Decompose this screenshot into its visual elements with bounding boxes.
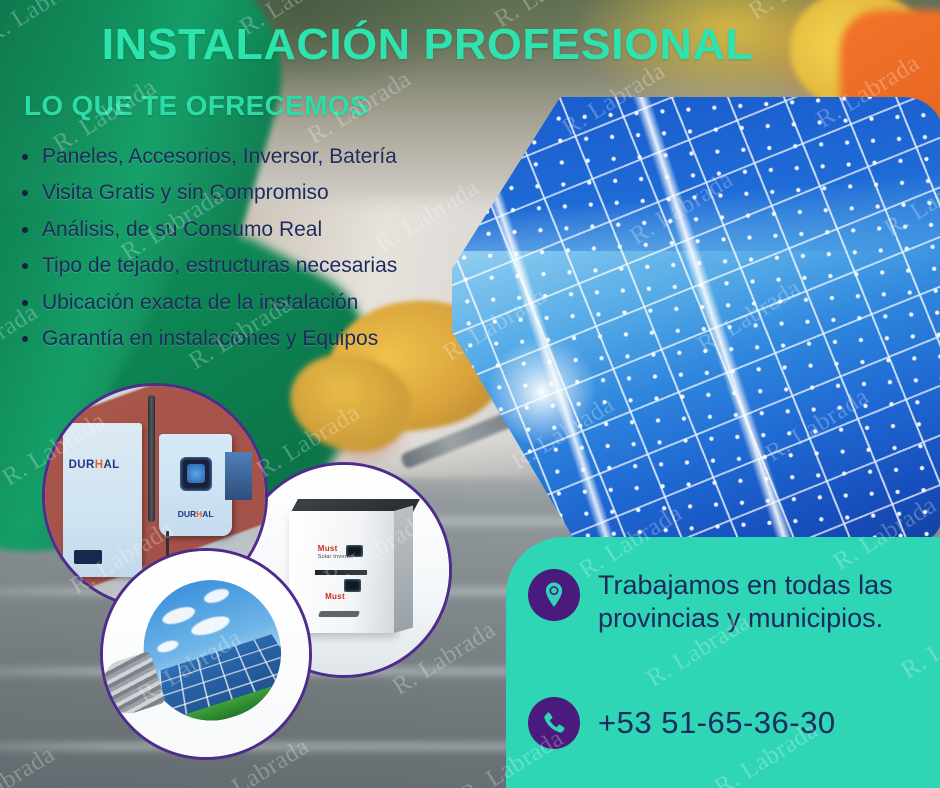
wall-side-panel xyxy=(225,452,251,500)
cabinet-display-upper xyxy=(346,545,363,557)
brand-prefix: DUR xyxy=(178,509,196,519)
list-item: Ubicación exacta de la instalación xyxy=(14,290,397,317)
cabinet-display-lower xyxy=(344,579,361,591)
wall-conduit xyxy=(148,395,155,523)
cabinet-base-stand xyxy=(318,611,360,617)
battery-led-panel xyxy=(74,550,103,564)
brand-suffix: AL xyxy=(103,459,119,471)
contact-card: Trabajamos en todas las provincias y mun… xyxy=(506,537,940,788)
list-item: Tipo de tejado, estructuras necesarias xyxy=(14,253,397,280)
coverage-text: Trabajamos en todas las provincias y mun… xyxy=(598,569,928,635)
list-item: Paneles, Accesorios, Inversor, Batería xyxy=(14,144,397,171)
coverage-row: Trabajamos en todas las provincias y mun… xyxy=(528,569,928,635)
durhal-inverter-logo: DURHAL xyxy=(159,509,232,519)
phone-number[interactable]: +53 51-65-36-30 xyxy=(598,705,836,741)
durhal-battery-logo: DURHAL xyxy=(69,459,136,471)
phone-row[interactable]: +53 51-65-36-30 xyxy=(528,697,836,749)
list-item: Visita Gratis y sin Compromiso xyxy=(14,180,397,207)
map-pin-icon xyxy=(528,569,580,621)
page-title: INSTALACIÓN PROFESIONAL xyxy=(102,20,754,70)
offers-heading: LO QUE TE OFRECEMOS xyxy=(24,90,369,122)
inverter-display xyxy=(180,457,212,491)
must-brand-upper: Must xyxy=(318,544,338,553)
brand-prefix: DUR xyxy=(69,459,95,471)
brand-suffix: AL xyxy=(202,509,213,519)
list-item: Análisis, de su Consumo Real xyxy=(14,217,397,244)
durhal-inverter-unit: DURHAL xyxy=(159,434,232,535)
must-brand-lower: Must xyxy=(325,592,345,601)
cabinet-divider xyxy=(315,570,368,575)
phone-icon xyxy=(528,697,580,749)
product-circle-solar-bulb xyxy=(100,548,312,760)
list-item: Garantía en instalaciones y Equipos xyxy=(14,326,397,353)
offers-list: Paneles, Accesorios, Inversor, Batería V… xyxy=(14,144,397,362)
solar-installation-poster: INSTALACIÓN PROFESIONAL LO QUE TE OFRECE… xyxy=(0,0,940,788)
cabinet-side-face xyxy=(394,506,413,633)
